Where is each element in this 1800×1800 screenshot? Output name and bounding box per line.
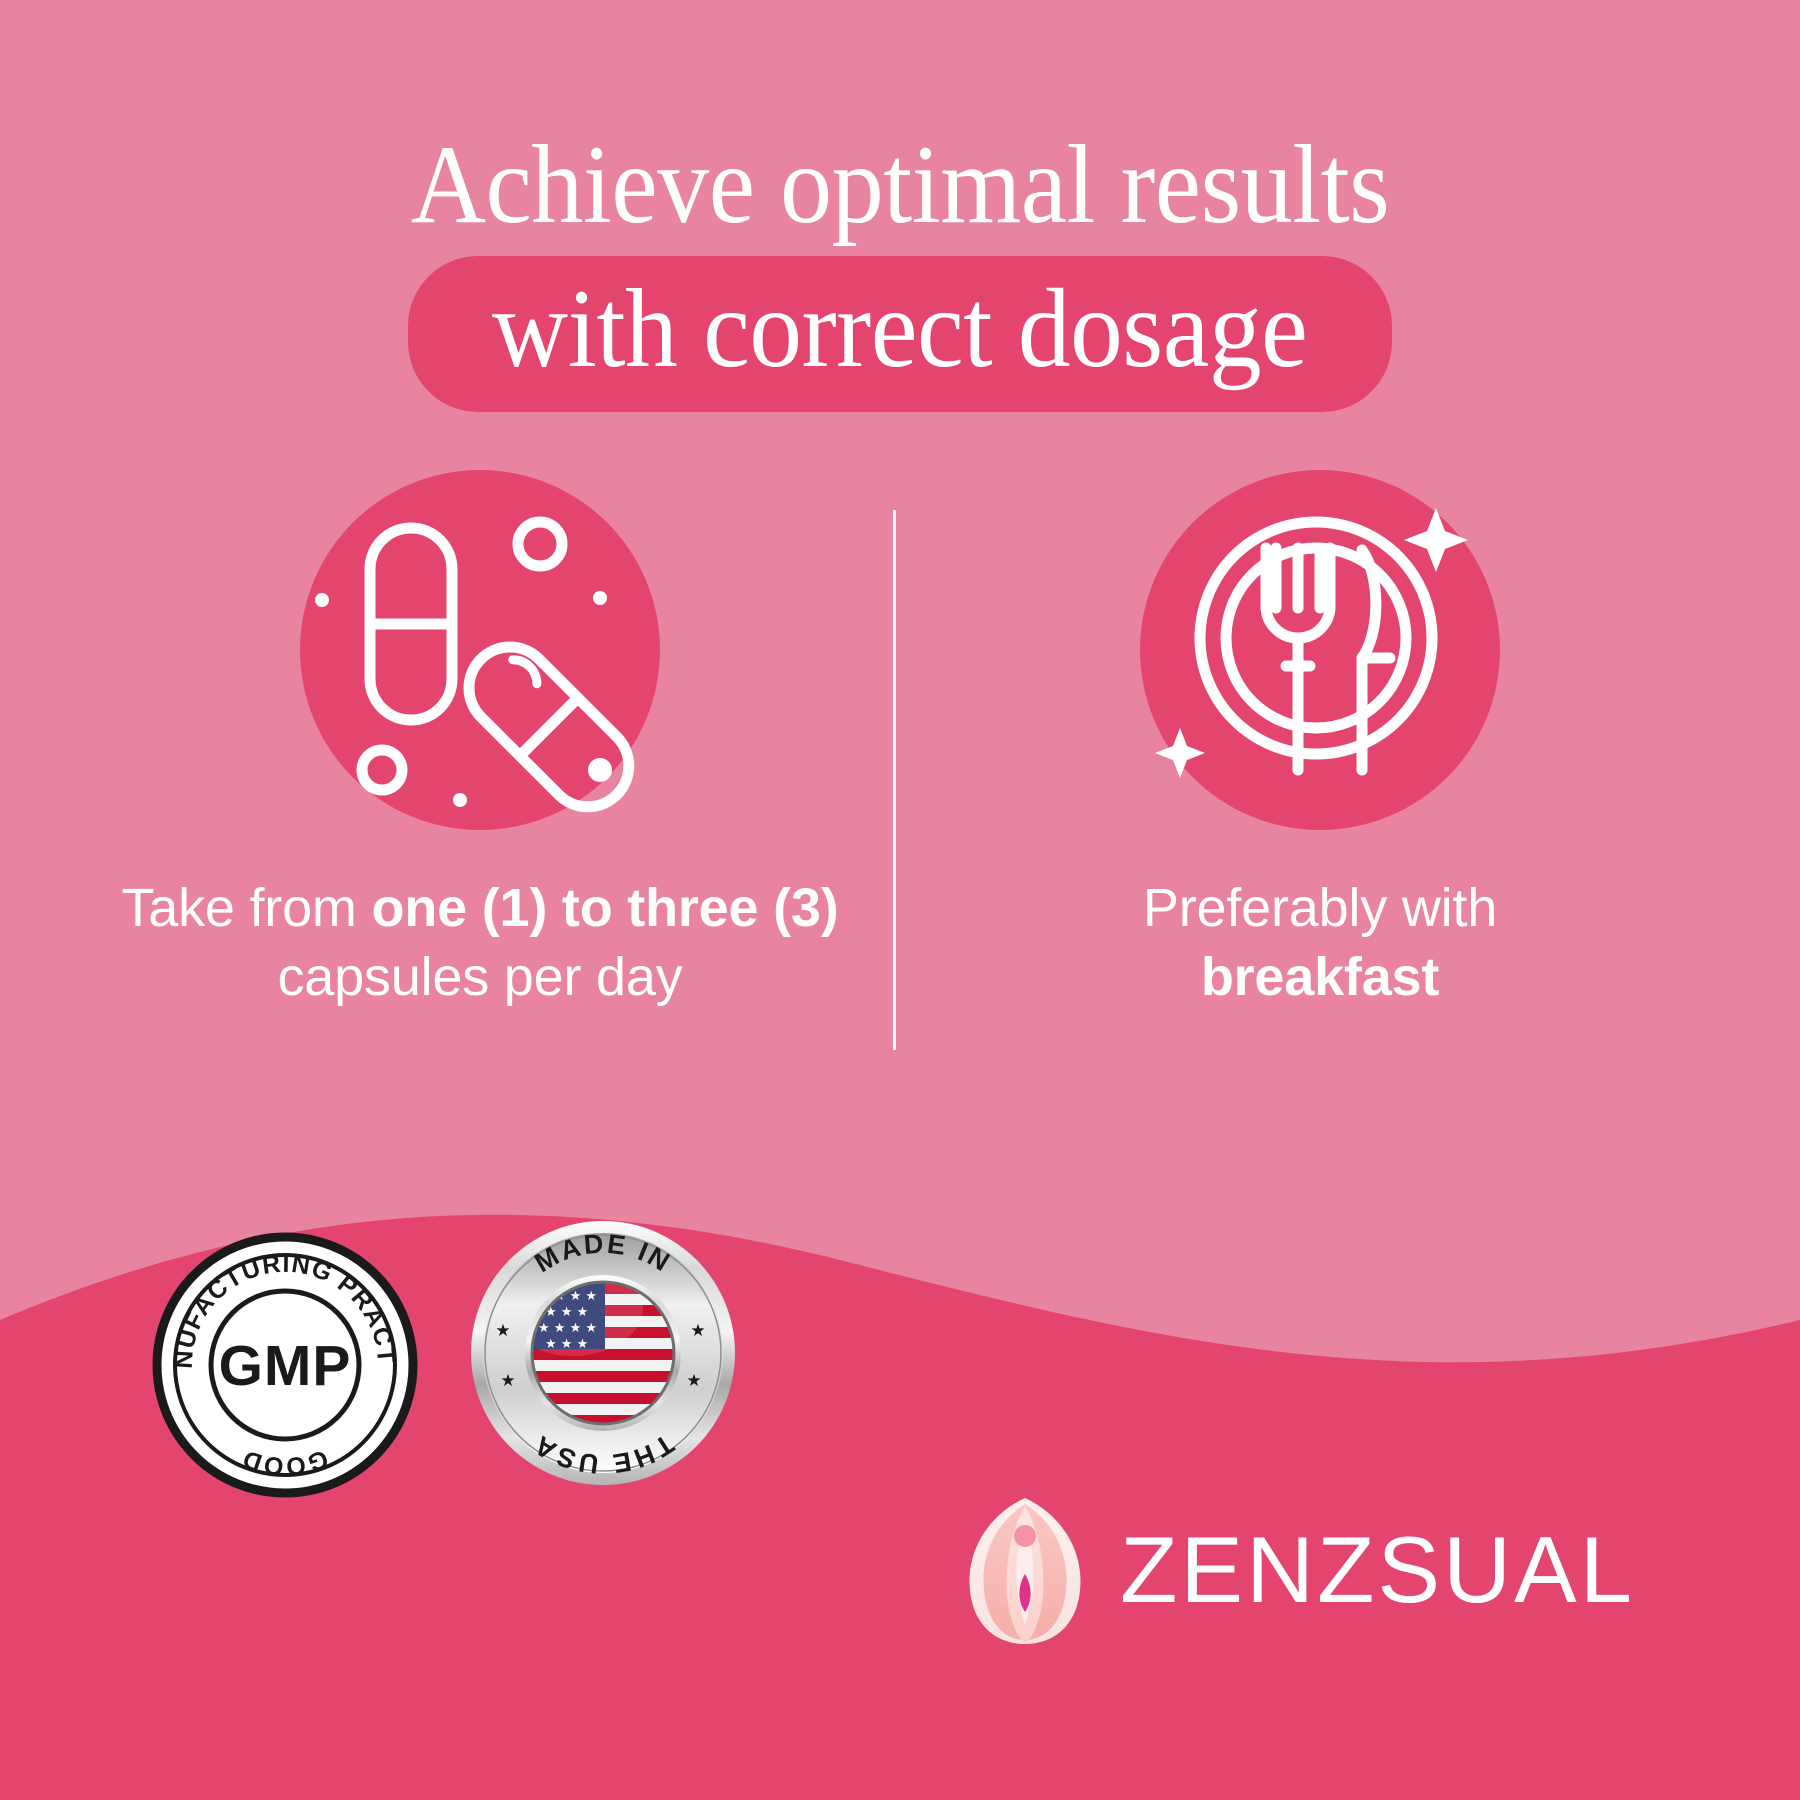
svg-text:★: ★ bbox=[690, 1321, 705, 1341]
gmp-center-text: GMP bbox=[219, 1334, 352, 1398]
plate-cutlery-icon bbox=[1140, 470, 1500, 830]
infographic-canvas: Achieve optimal results with correct dos… bbox=[0, 0, 1800, 1800]
headline-highlight-pill: with correct dosage bbox=[408, 256, 1391, 412]
flower-petal-logo-icon bbox=[960, 1490, 1090, 1650]
headline-pill-wrap: with correct dosage bbox=[0, 256, 1800, 412]
caption-part: Take from bbox=[121, 878, 371, 938]
capsules-icon-circle bbox=[300, 470, 660, 830]
headline: Achieve optimal results with correct dos… bbox=[0, 128, 1800, 412]
brand-lockup: ZENZSUAL bbox=[960, 1470, 1600, 1670]
made-in-usa-badge: ★ ★ ★ ★ ★ ★ ★ ★ ★ ★ ★ ★ ★ ★ ★ ★ ★ ★ MADE… bbox=[468, 1218, 738, 1488]
headline-line-2: with correct dosage bbox=[492, 272, 1307, 386]
svg-text:★: ★ bbox=[495, 1321, 510, 1341]
caption-part-bold: one (1) to three (3) bbox=[372, 878, 839, 938]
caption-part: capsules per day bbox=[277, 947, 682, 1007]
caption-part-bold: breakfast bbox=[1201, 947, 1439, 1007]
feature-column-mealtime: Preferably with breakfast bbox=[900, 470, 1740, 1012]
gmp-badge: MANUFACTURING PRACTICE GOOD GMP bbox=[150, 1230, 420, 1500]
caption-part: Preferably with bbox=[1143, 878, 1497, 938]
svg-text:★: ★ bbox=[500, 1371, 515, 1391]
feature-column-dosage: Take from one (1) to three (3) capsules … bbox=[60, 470, 900, 1012]
svg-text:★: ★ bbox=[686, 1371, 701, 1391]
mealtime-caption: Preferably with breakfast bbox=[900, 874, 1740, 1012]
plate-icon-circle bbox=[1140, 470, 1500, 830]
feature-columns: Take from one (1) to three (3) capsules … bbox=[0, 470, 1800, 1090]
dosage-caption: Take from one (1) to three (3) capsules … bbox=[60, 874, 900, 1012]
brand-name: ZENZSUAL bbox=[1120, 1516, 1635, 1624]
headline-line-1: Achieve optimal results bbox=[63, 128, 1737, 242]
capsules-icon bbox=[300, 470, 660, 830]
certification-badges: MANUFACTURING PRACTICE GOOD GMP bbox=[150, 1218, 750, 1518]
